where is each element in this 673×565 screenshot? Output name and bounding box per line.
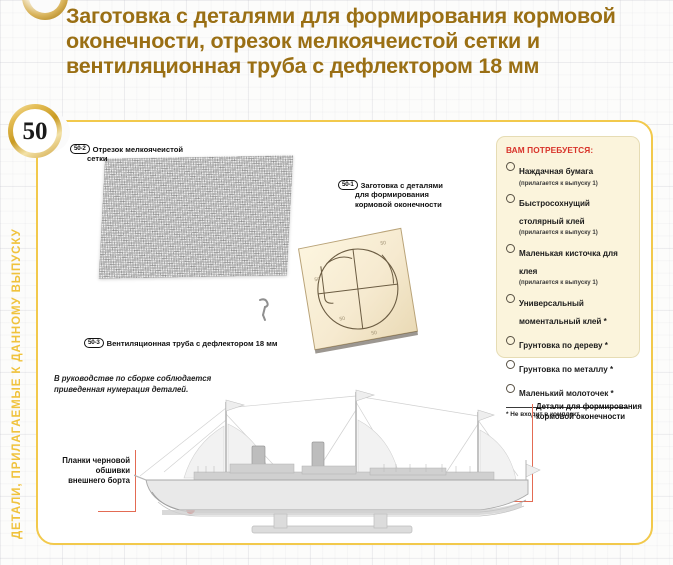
svg-text:50: 50 [371,330,377,337]
requirement-text: Наждачная бумага [519,167,593,176]
checkbox-circle-icon[interactable] [506,194,515,203]
requirement-item[interactable]: Универсальный моментальный клей * [506,293,630,329]
ship-section: В руководстве по сборке соблюдается прив… [38,362,655,547]
leader-line-left-horizontal [98,511,136,512]
requirement-text: Быстросохнущий столярный клей [519,199,590,226]
requirement-text: Универсальный моментальный клей * [519,299,607,326]
part-number-badge: 50-2 [70,144,90,154]
checkbox-circle-icon[interactable] [506,162,515,171]
plywood-sheet-icon: 50 50 50 50 [293,225,422,354]
svg-text:50: 50 [314,277,320,284]
ship-illustration [134,380,554,545]
requirement-item[interactable]: Быстросохнущий столярный клей (прилагает… [506,193,630,237]
requirement-text: Маленькая кисточка для клея [519,249,618,276]
part-label-50-3: 50-3Вентиляционная труба с дефлектором 1… [84,338,374,348]
part-number-badge: 50-3 [84,338,104,348]
part-label-50-1: 50-1Заготовка с деталями для формировани… [338,180,488,209]
requirements-title: ВАМ ПОТРЕБУЕТСЯ: [506,145,630,155]
main-panel: 50 50 50 50 50-2Отрезок мелкоячеистой се… [36,120,653,545]
checkbox-circle-icon[interactable] [506,336,515,345]
part-number-badge: 50-1 [338,180,358,190]
sidebar: ДЕТАЛИ, ПРИЛАГАЕМЫЕ К ДАННОМУ ВЫПУСКУ [0,150,34,550]
svg-text:50: 50 [339,316,345,323]
issue-badge: 50 [8,104,62,158]
vent-tube-icon [254,297,282,323]
requirement-note: (прилагается к выпуску 1) [519,229,630,236]
page-title: Заготовка с деталями для формирования ко… [66,4,666,79]
checkbox-circle-icon[interactable] [506,244,515,253]
callout-left-label: Планки черновой обшивки внешнего борта [58,456,130,485]
requirement-item[interactable]: Наждачная бумага (прилагается к выпуску … [506,161,630,187]
requirement-item[interactable]: Грунтовка по дереву * [506,335,630,353]
part-label-text-line2: сетки [87,154,220,163]
part-label-text: Вентиляционная труба с дефлектором 18 мм [107,339,278,348]
issue-badge-face: 50 [13,109,57,153]
svg-text:50: 50 [380,240,386,247]
checkbox-circle-icon[interactable] [506,294,515,303]
requirement-note: (прилагается к выпуску 1) [519,279,630,286]
part-label-text: Заготовка с деталями [361,181,443,190]
part-label-50-2: 50-2Отрезок мелкоячеистой сетки [70,144,220,164]
requirement-note: (прилагается к выпуску 1) [519,180,630,187]
requirement-item[interactable]: Маленькая кисточка для клея (прилагается… [506,243,630,287]
requirements-box: ВАМ ПОТРЕБУЕТСЯ: Наждачная бумага (прила… [496,136,640,358]
requirement-text: Грунтовка по дереву * [519,341,608,350]
parts-area: 50 50 50 50 50-2Отрезок мелкоячеистой се… [38,122,655,367]
part-label-text: Отрезок мелкоячеистой [93,145,183,154]
sidebar-vertical-label: ДЕТАЛИ, ПРИЛАГАЕМЫЕ К ДАННОМУ ВЫПУСКУ [11,153,23,539]
part-label-text-line3: кормовой оконечности [355,200,488,209]
issue-number: 50 [23,119,48,144]
part-label-text-line2: для формирования [355,190,488,199]
mesh-sheet-icon [99,155,293,278]
